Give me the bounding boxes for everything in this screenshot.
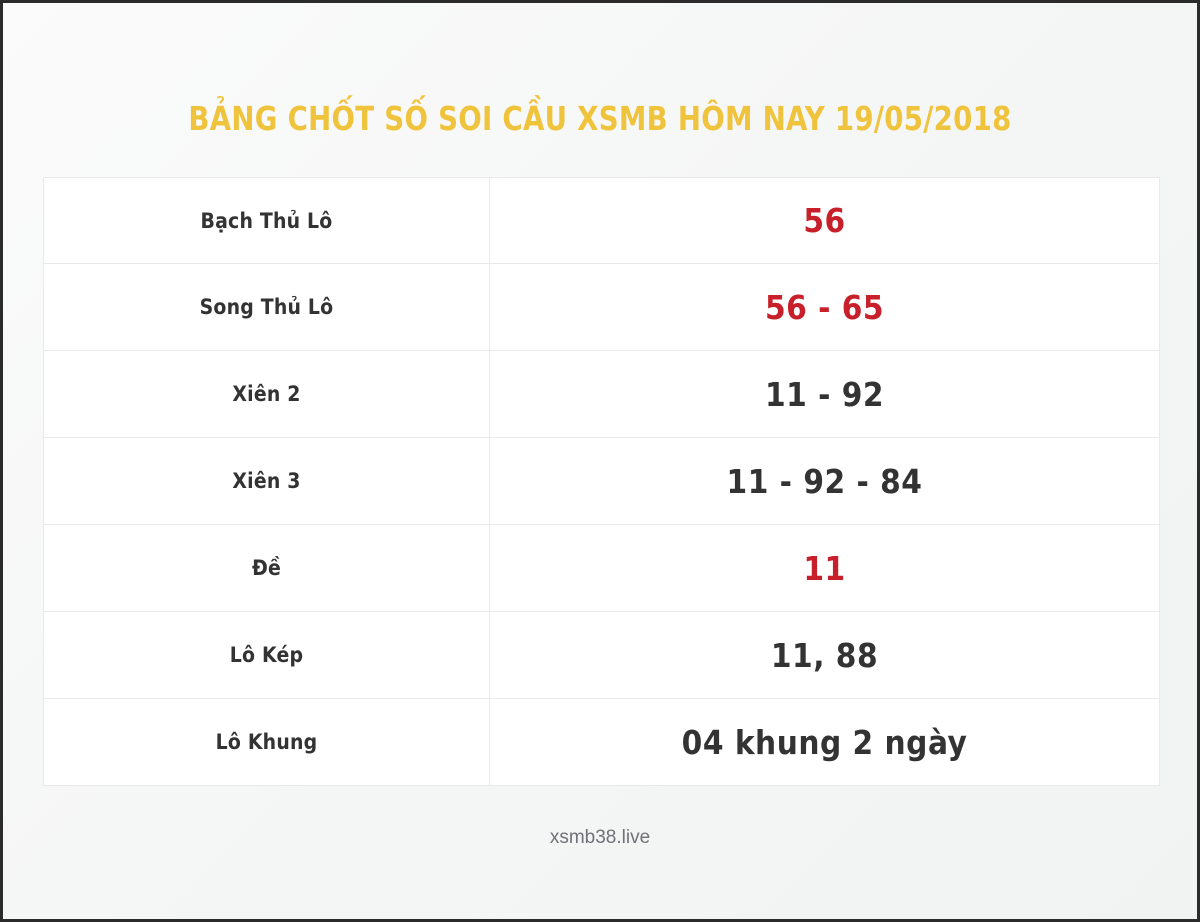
bet-type-label: Bạch Thủ Lô: [44, 178, 490, 263]
bet-number-value: 11 - 92 - 84: [490, 438, 1159, 524]
bet-number-value: 11: [490, 525, 1159, 611]
bet-number-value: 11, 88: [490, 612, 1159, 698]
bet-number-value: 11 - 92: [490, 351, 1159, 437]
page-title: BẢNG CHỐT SỐ SOI CẦU XSMB HÔM NAY 19/05/…: [45, 99, 1155, 138]
table-row: Xiên 211 - 92: [43, 351, 1160, 438]
bet-type-label: Song Thủ Lô: [44, 264, 490, 350]
poster-canvas: BẢNG CHỐT SỐ SOI CẦU XSMB HÔM NAY 19/05/…: [3, 3, 1197, 919]
bet-number-value: 04 khung 2 ngày: [490, 699, 1159, 785]
table-row: Lô Khung04 khung 2 ngày: [43, 699, 1160, 786]
table-row: Bạch Thủ Lô56: [43, 177, 1160, 264]
table-row: Đề11: [43, 525, 1160, 612]
bet-type-label: Xiên 2: [44, 351, 490, 437]
table-row: Song Thủ Lô56 - 65: [43, 264, 1160, 351]
bet-type-label: Xiên 3: [44, 438, 490, 524]
bet-type-label: Đề: [44, 525, 490, 611]
table-row: Lô Kép11, 88: [43, 612, 1160, 699]
bet-type-label: Lô Khung: [44, 699, 490, 785]
table-row: Xiên 311 - 92 - 84: [43, 438, 1160, 525]
bet-number-value: 56: [490, 178, 1159, 263]
bet-number-value: 56 - 65: [490, 264, 1159, 350]
site-credit: xsmb38.live: [3, 827, 1197, 849]
prediction-table: Bạch Thủ Lô56Song Thủ Lô56 - 65Xiên 211 …: [43, 177, 1160, 786]
bet-type-label: Lô Kép: [44, 612, 490, 698]
